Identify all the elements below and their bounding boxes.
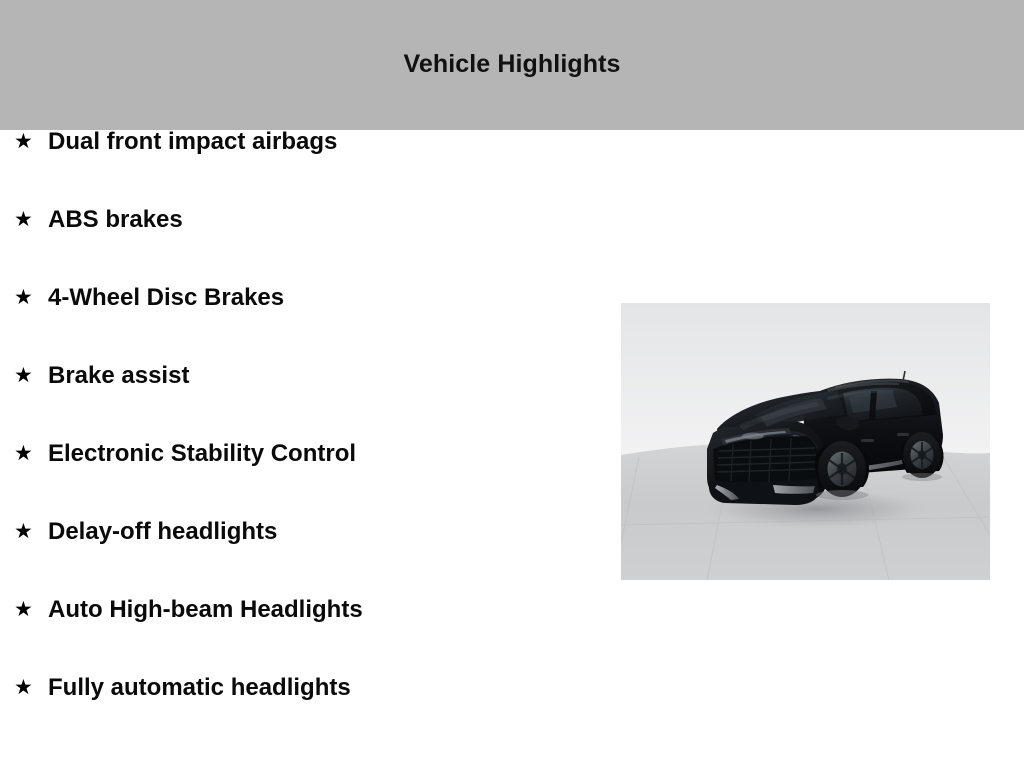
highlight-label: ABS brakes xyxy=(48,208,183,232)
star-icon: ★ xyxy=(14,443,48,464)
star-icon: ★ xyxy=(14,287,48,308)
list-item: ★ Fully automatic headlights xyxy=(0,676,600,754)
star-icon: ★ xyxy=(14,677,48,698)
highlight-label: Dual front impact airbags xyxy=(48,130,337,154)
star-icon: ★ xyxy=(14,209,48,230)
highlight-label: 4-Wheel Disc Brakes xyxy=(48,286,284,310)
list-item: ★ ABS brakes xyxy=(0,208,600,286)
star-icon: ★ xyxy=(14,521,48,542)
list-item: ★ Electronic Stability Control xyxy=(0,442,600,520)
list-item: ★ Delay-off headlights xyxy=(0,520,600,598)
vehicle-highlights-list: ★ Dual front impact airbags ★ ABS brakes… xyxy=(0,130,600,754)
vehicle-image xyxy=(621,303,990,580)
star-icon: ★ xyxy=(14,365,48,386)
brand-badge xyxy=(742,433,764,440)
highlight-label: Fully automatic headlights xyxy=(48,676,351,700)
star-icon: ★ xyxy=(14,599,48,620)
page-header: Vehicle Highlights xyxy=(0,0,1024,130)
highlight-label: Delay-off headlights xyxy=(48,520,277,544)
list-item: ★ Auto High-beam Headlights xyxy=(0,598,600,676)
star-icon: ★ xyxy=(14,131,48,152)
list-item: ★ Dual front impact airbags xyxy=(0,130,600,208)
highlight-label: Auto High-beam Headlights xyxy=(48,598,363,622)
list-item: ★ Brake assist xyxy=(0,364,600,442)
highlight-label: Electronic Stability Control xyxy=(48,442,356,466)
highlight-label: Brake assist xyxy=(48,364,189,388)
list-item: ★ 4-Wheel Disc Brakes xyxy=(0,286,600,364)
vehicle-photo-graphic xyxy=(621,303,990,580)
page-title: Vehicle Highlights xyxy=(403,50,620,79)
